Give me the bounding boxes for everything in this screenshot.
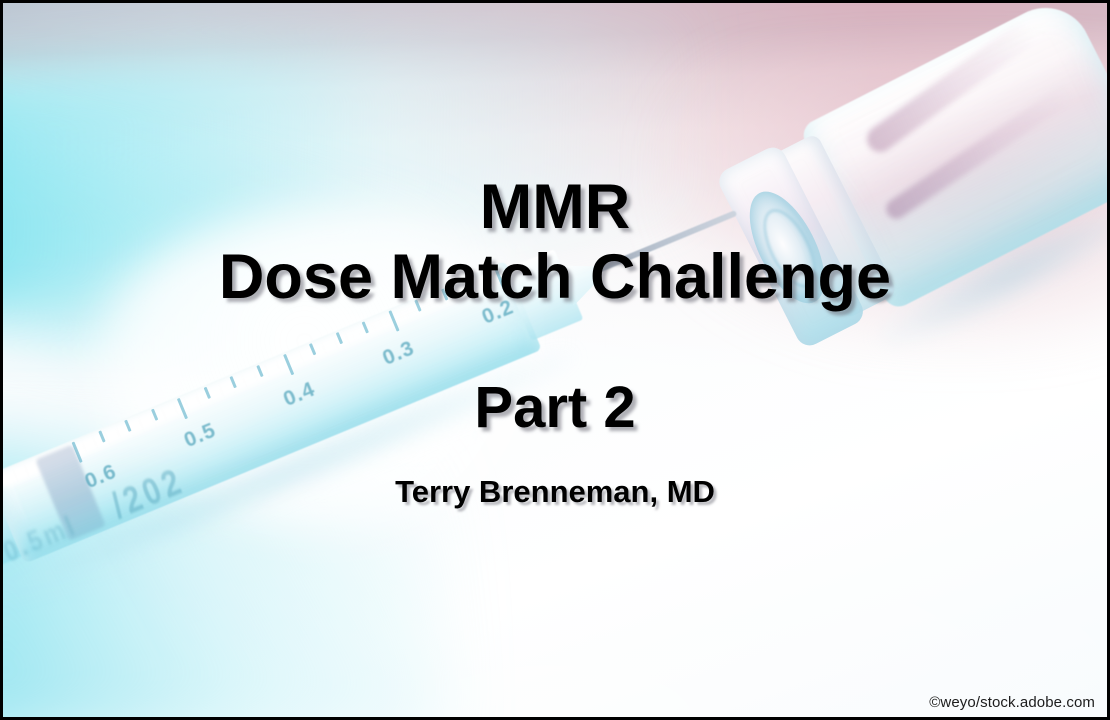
presentation-slide: 0.6 0.5 0.4 0.3 0.2 /202 0.5ml MMR Dose … bbox=[0, 0, 1110, 720]
image-credit: ©weyo/stock.adobe.com bbox=[929, 694, 1095, 711]
syringe-scale-label: 0.3 bbox=[379, 336, 418, 370]
slide-title-line-2: Dose Match Challenge bbox=[3, 243, 1107, 311]
slide-author: Terry Brenneman, MD bbox=[3, 475, 1107, 509]
slide-canvas: 0.6 0.5 0.4 0.3 0.2 /202 0.5ml MMR Dose … bbox=[3, 3, 1107, 717]
slide-part-label: Part 2 bbox=[3, 377, 1107, 438]
slide-title-line-1: MMR bbox=[3, 173, 1107, 241]
